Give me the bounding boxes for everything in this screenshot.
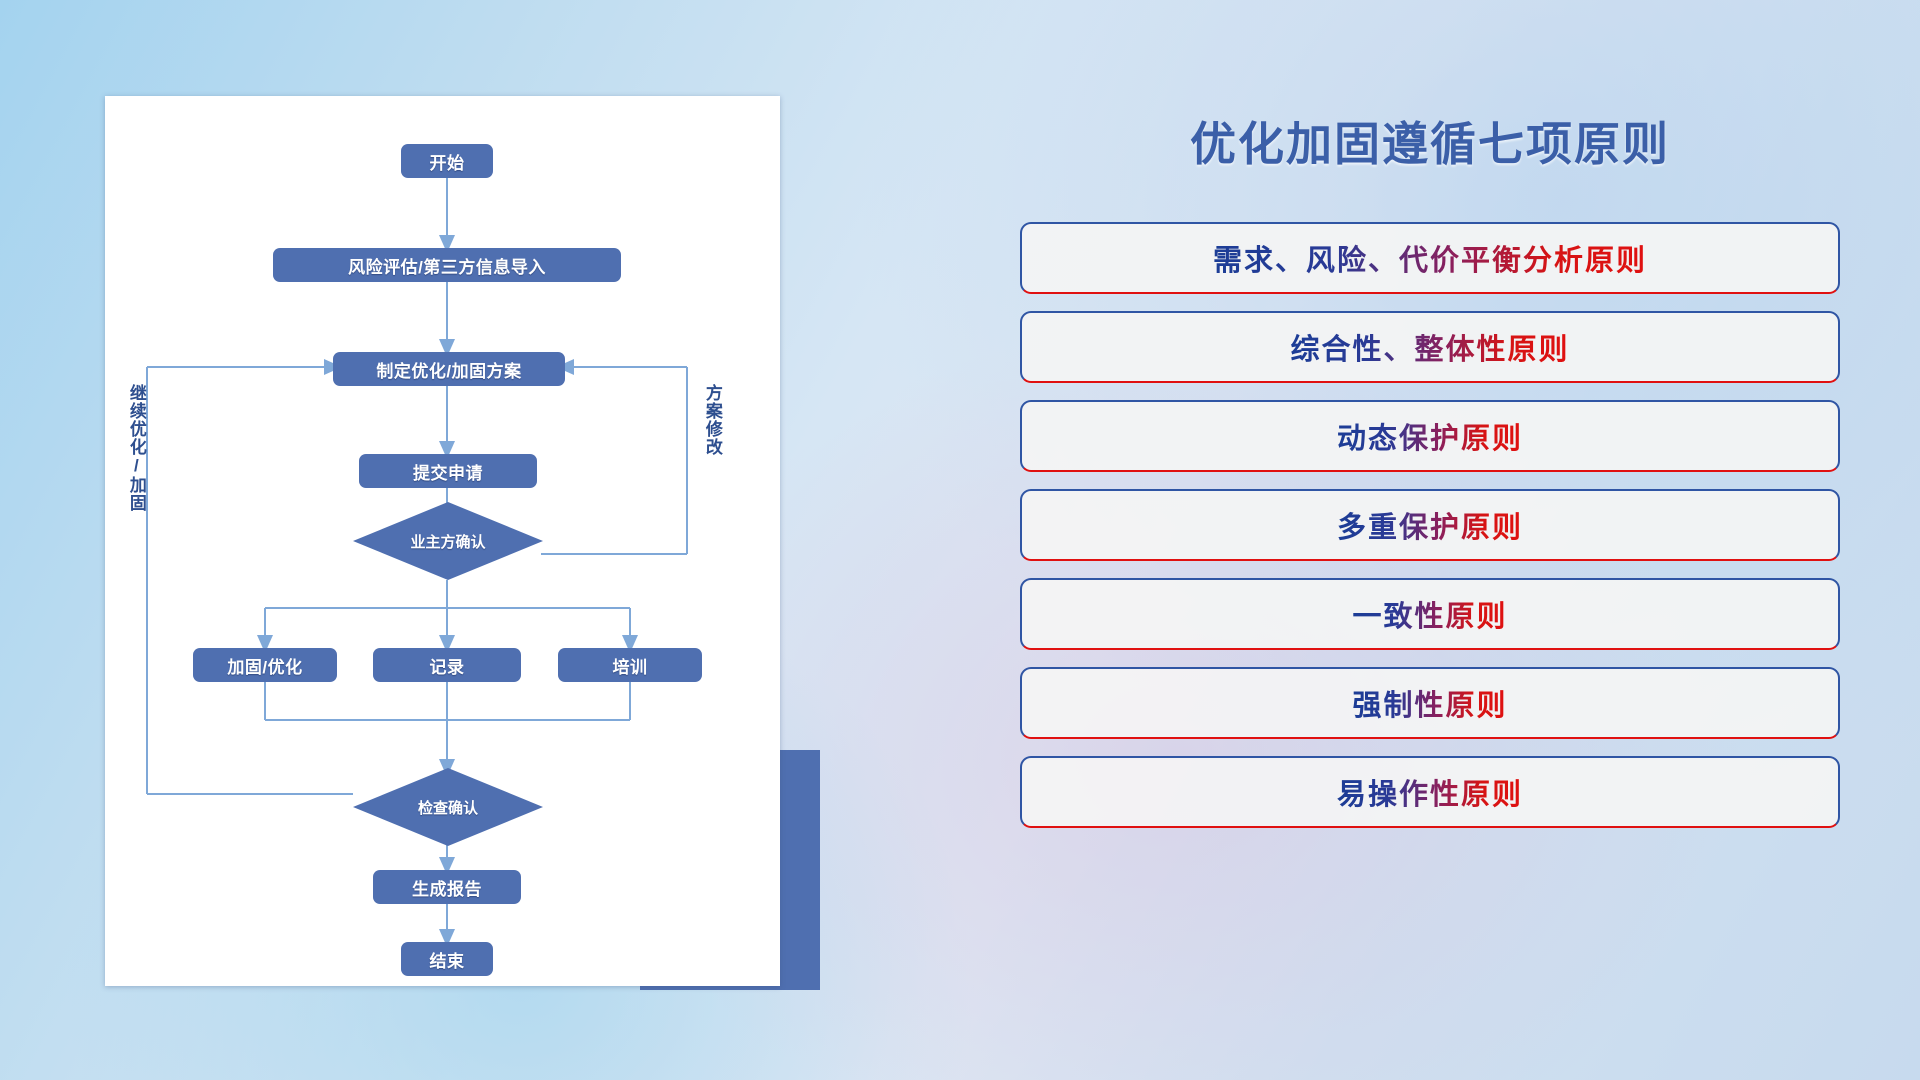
flowchart-panel: 开始 风险评估/第三方信息导入 制定优化/加固方案 提交申请 业主方确认 加固/… [105, 96, 780, 986]
flow-node-label: 提交申请 [413, 459, 483, 484]
principle-label: 动态保护原则 [1337, 415, 1523, 457]
flow-node-submit-application[interactable]: 提交申请 [359, 454, 537, 488]
flow-node-label: 结束 [430, 947, 465, 972]
flow-node-start[interactable]: 开始 [401, 144, 493, 178]
flow-node-label: 检查确认 [418, 797, 478, 818]
principle-card[interactable]: 强制性原则 [1020, 667, 1840, 739]
slide-canvas: 开始 风险评估/第三方信息导入 制定优化/加固方案 提交申请 业主方确认 加固/… [0, 0, 1920, 1080]
principle-label: 多重保护原则 [1337, 504, 1523, 546]
principle-card[interactable]: 综合性、整体性原则 [1020, 311, 1840, 383]
side-label-text: 方案修改 [703, 384, 722, 456]
flow-decision-owner-confirm[interactable]: 业主方确认 [353, 502, 543, 580]
flowchart: 开始 风险评估/第三方信息导入 制定优化/加固方案 提交申请 业主方确认 加固/… [105, 96, 780, 986]
principle-card[interactable]: 多重保护原则 [1020, 489, 1840, 561]
principle-label: 强制性原则 [1352, 682, 1507, 724]
flow-node-label: 加固/优化 [227, 653, 302, 678]
flow-node-plan[interactable]: 制定优化/加固方案 [333, 352, 565, 386]
flow-label-continue-optimize: 继续优化/加固 [127, 384, 145, 512]
principle-label: 综合性、整体性原则 [1290, 326, 1569, 368]
flow-node-label: 业主方确认 [410, 531, 485, 552]
principles-list: 需求、风险、代价平衡分析原则 综合性、整体性原则 动态保护原则 多重保护原则 一… [1020, 222, 1840, 845]
principle-label: 一致性原则 [1352, 593, 1507, 635]
flow-node-generate-report[interactable]: 生成报告 [373, 870, 521, 904]
flow-node-label: 制定优化/加固方案 [376, 357, 521, 382]
principle-label: 易操作性原则 [1337, 771, 1523, 813]
flow-node-label: 开始 [430, 149, 465, 174]
principle-card[interactable]: 动态保护原则 [1020, 400, 1840, 472]
principle-label: 需求、风险、代价平衡分析原则 [1213, 237, 1647, 279]
flow-node-risk-assessment[interactable]: 风险评估/第三方信息导入 [273, 248, 621, 282]
flow-label-plan-revision: 方案修改 [703, 384, 721, 456]
principle-card[interactable]: 一致性原则 [1020, 578, 1840, 650]
principles-panel: 优化加固遵循七项原则 需求、风险、代价平衡分析原则 综合性、整体性原则 动态保护… [1020, 100, 1840, 1000]
flow-node-label: 生成报告 [412, 875, 482, 900]
side-label-text: 继续优化/加固 [127, 384, 146, 512]
flow-node-label: 记录 [430, 653, 465, 678]
flow-node-reinforce[interactable]: 加固/优化 [193, 648, 337, 682]
flow-node-training[interactable]: 培训 [558, 648, 702, 682]
flow-node-label: 培训 [613, 653, 648, 678]
principle-card[interactable]: 易操作性原则 [1020, 756, 1840, 828]
principle-card[interactable]: 需求、风险、代价平衡分析原则 [1020, 222, 1840, 294]
flow-node-label: 风险评估/第三方信息导入 [348, 253, 546, 278]
flow-node-end[interactable]: 结束 [401, 942, 493, 976]
flow-decision-check-confirm[interactable]: 检查确认 [353, 768, 543, 846]
page-title: 优化加固遵循七项原则 [1020, 108, 1840, 174]
flow-node-record[interactable]: 记录 [373, 648, 521, 682]
